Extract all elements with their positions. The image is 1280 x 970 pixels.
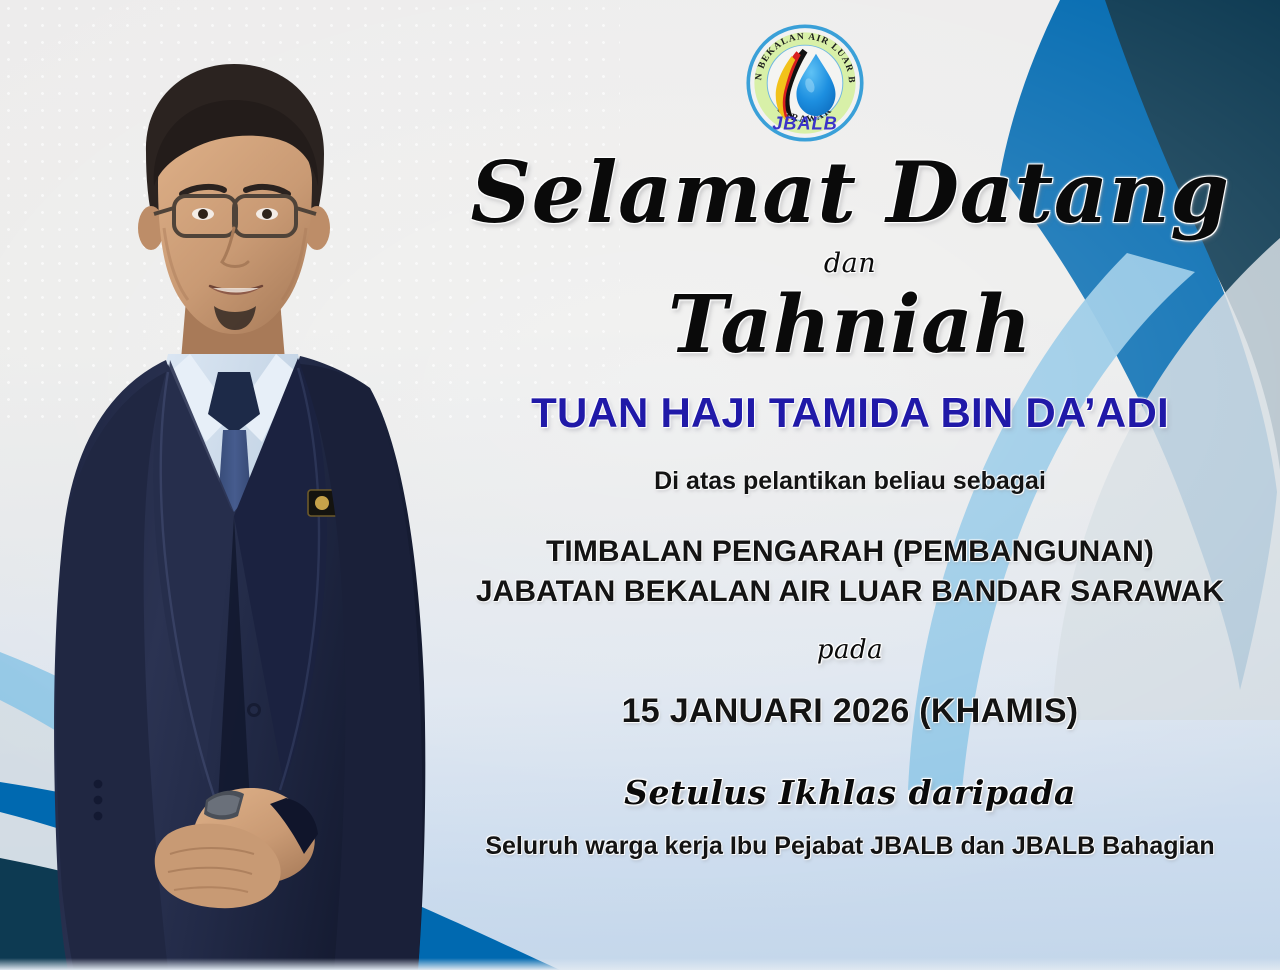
certificate-poster: JABATAN BEKALAN AIR LUAR BANDAR SARAWAK … [0,0,1280,970]
position-title: TIMBALAN PENGARAH (PEMBANGUNAN) JABATAN … [455,532,1245,611]
position-line-1: TIMBALAN PENGARAH (PEMBANGUNAN) [455,532,1245,572]
position-line-2: JABATAN BEKALAN AIR LUAR BANDAR SARAWAK [455,572,1245,612]
conjunction-text: dan [455,250,1245,277]
portrait-photo [18,42,448,970]
appointment-reason: Di atas pelantikan beliau sebagai [455,466,1245,496]
appointment-date: 15 JANUARI 2026 (KHAMIS) [455,691,1245,732]
jbalb-logo: JABATAN BEKALAN AIR LUAR BANDAR SARAWAK … [744,22,866,144]
bottom-strip [0,958,1280,970]
logo-acronym: JBALB [772,112,838,133]
honoree-name: TUAN HAJI TAMIDA BIN DA’ADI [455,390,1245,436]
greeting-heading: Selamat Datang [455,150,1245,236]
regards-label: Setulus Ikhlas daripada [455,776,1245,809]
on-label: pada [455,637,1245,663]
sender-text: Seluruh warga kerja Ibu Pejabat JBALB da… [455,831,1245,861]
message-block: Selamat Datang dan Tahniah TUAN HAJI TAM… [455,150,1245,861]
congrats-heading: Tahniah [455,283,1245,366]
